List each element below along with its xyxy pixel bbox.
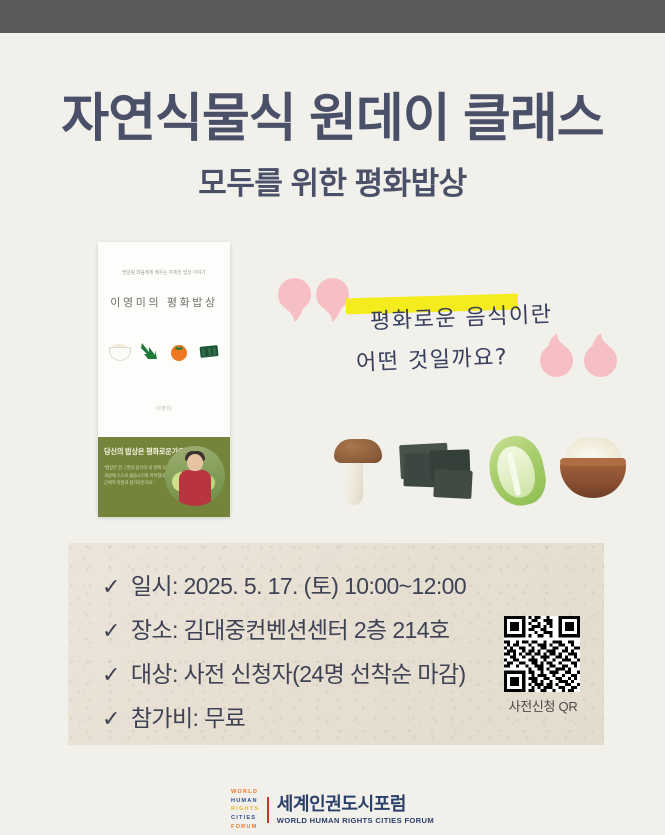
book-author: 이영미 — [98, 405, 230, 412]
check-icon: ✓ — [102, 619, 120, 644]
info-row-location: ✓ 장소: 김대중컨벤션센터 2층 214호 — [102, 611, 532, 645]
forum-mark-line-5: FORUM — [231, 823, 259, 832]
footer-logo: WORLD HUMAN RIGHTS CITIES FORUM 세계인권도시포럼… — [0, 788, 665, 831]
check-icon: ✓ — [102, 575, 120, 600]
forum-name-block: 세계인권도시포럼 WORLD HUMAN RIGHTS CITIES FORUM — [277, 795, 434, 825]
food-image-row — [312, 428, 612, 512]
forum-mark-line-1: WORLD — [231, 788, 259, 797]
napa-cabbage-image — [484, 432, 550, 510]
quote-open-mark-icon — [278, 278, 356, 328]
book-band: 당신의 밥상은 평화로운가요? "밥상은 한 그릇의 음식이 내 앞에 오기까지… — [98, 437, 230, 517]
qr-code-icon[interactable] — [504, 616, 580, 692]
window-title-bar — [0, 0, 665, 33]
qr-registration-block[interactable]: 사전신청 QR — [504, 616, 582, 715]
rice-bowl-icon — [108, 340, 130, 362]
leaf-icon — [138, 340, 160, 362]
event-info-box: ✓ 일시: 2025. 5. 17. (토) 10:00~12:00 ✓ 장소:… — [68, 543, 604, 745]
quote-line-2: 어떤 것일까요? — [355, 339, 508, 377]
info-row-location-text: 장소: 김대중컨벤션센터 2층 214호 — [131, 611, 450, 645]
info-row-date-text: 일시: 2025. 5. 17. (토) 10:00~12:00 — [131, 567, 466, 601]
info-row-audience-text: 대상: 사전 신청자(24명 선착순 마감) — [131, 655, 466, 689]
book-tagline: 땅살림 마음에게 배우는 주체한 밥상 이야기 — [98, 270, 230, 277]
forum-mark-line-3: RIGHTS — [231, 805, 259, 814]
quote-line-1: 평화로운 음식이란 — [369, 296, 553, 335]
quote-close-mark-icon — [540, 330, 630, 388]
book-title: 이영미의 평화밥상 — [98, 294, 230, 310]
bowl-of-rice-image — [560, 438, 630, 504]
poster-root: 자연식물식 원데이 클래스 모두를 위한 평화밥상 땅살림 마음에게 배우는 주… — [0, 0, 665, 835]
author-photo — [165, 446, 225, 506]
dried-seaweed-sheets-image — [400, 444, 476, 506]
qr-code-label: 사전신청 QR — [504, 696, 582, 715]
page-subtitle: 모두를 위한 평화밥상 — [0, 167, 665, 201]
info-row-fee: ✓ 참가비: 무료 — [102, 699, 532, 733]
seaweed-icon — [198, 340, 220, 362]
forum-name-kr: 세계인권도시포럼 — [277, 795, 434, 815]
info-row-date: ✓ 일시: 2025. 5. 17. (토) 10:00~12:00 — [102, 567, 532, 601]
forum-mark-icon: WORLD HUMAN RIGHTS CITIES FORUM — [231, 788, 259, 831]
king-oyster-mushroom-image — [324, 434, 386, 508]
forum-mark-line-2: HUMAN — [231, 797, 259, 806]
page-title: 자연식물식 원데이 클래스 — [0, 92, 665, 147]
forum-mark-line-4: CITIES — [231, 814, 259, 823]
check-icon: ✓ — [102, 663, 120, 688]
book-cover-image: 땅살림 마음에게 배우는 주체한 밥상 이야기 이영미의 평화밥상 — [98, 242, 230, 517]
info-row-fee-text: 참가비: 무료 — [131, 699, 245, 733]
book-food-icon-row — [108, 338, 220, 364]
info-row-audience: ✓ 대상: 사전 신청자(24명 선착순 마감) — [102, 655, 532, 689]
forum-name-en: WORLD HUMAN RIGHTS CITIES FORUM — [277, 816, 434, 825]
check-icon: ✓ — [102, 707, 120, 732]
tomato-icon — [168, 340, 190, 362]
logo-divider — [267, 797, 269, 823]
event-info-list: ✓ 일시: 2025. 5. 17. (토) 10:00~12:00 ✓ 장소:… — [102, 567, 532, 733]
